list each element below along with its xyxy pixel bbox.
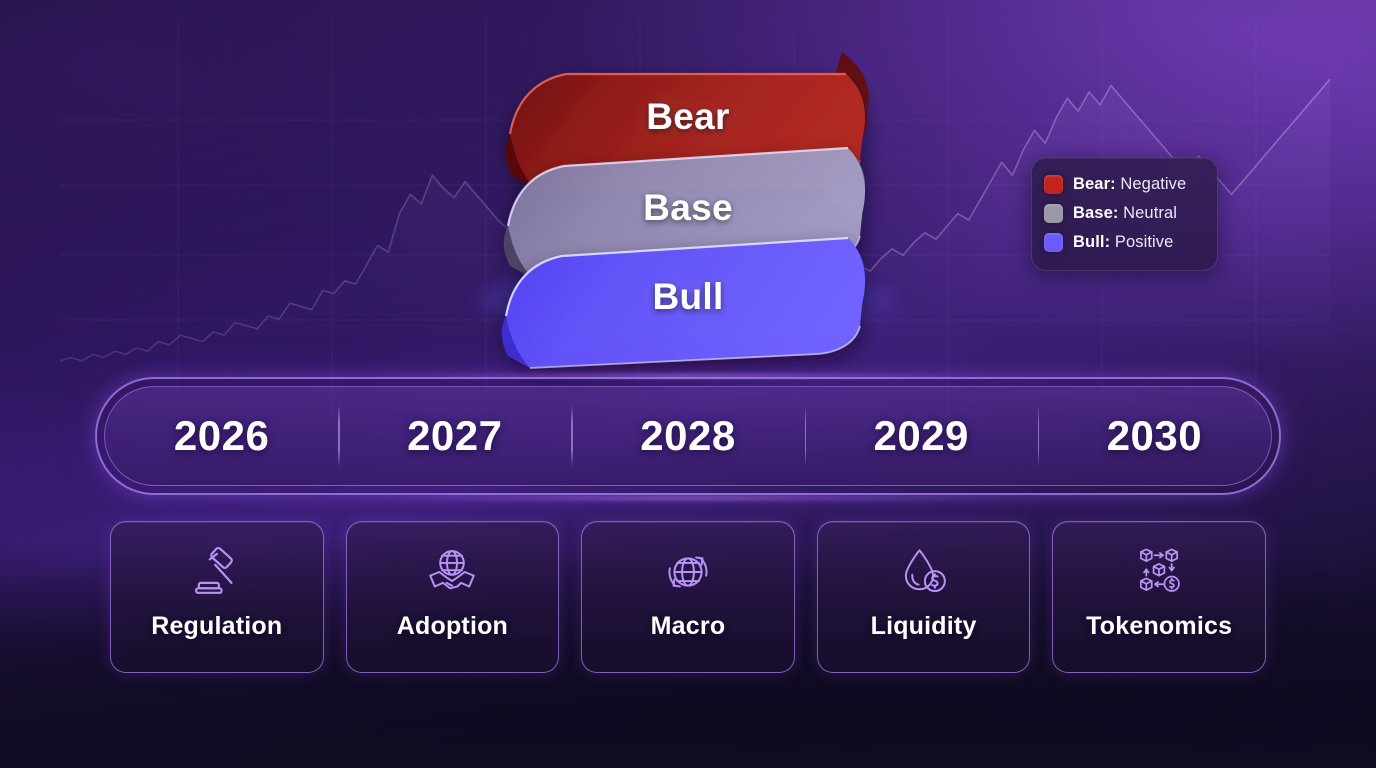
year-label: 2026 [174, 412, 269, 460]
gavel-icon [188, 543, 246, 601]
timeline-year-2027[interactable]: 2027 [338, 387, 571, 485]
legend-value-base: Neutral [1118, 204, 1177, 222]
year-label: 2030 [1107, 412, 1202, 460]
blockchain-cubes-icon [1130, 543, 1188, 601]
legend-swatch-base [1044, 204, 1063, 223]
droplet-dollar-icon [895, 543, 953, 601]
year-label: 2027 [407, 412, 502, 460]
globe-arrows-icon [659, 543, 717, 601]
factor-label-macro: Macro [582, 612, 794, 641]
legend-value-bear: Negative [1116, 175, 1187, 193]
legend-label-bull: Bull: Positive [1073, 233, 1173, 252]
factor-card-macro[interactable]: Macro [581, 521, 795, 673]
pill-inner-track: 2026 2027 2028 2029 2030 [104, 386, 1272, 486]
factor-card-regulation[interactable]: Regulation [110, 521, 324, 673]
year-label: 2029 [873, 412, 968, 460]
legend-item-bull: Bull: Positive [1044, 228, 1203, 257]
pill-glow-bottom [328, 496, 1048, 500]
factor-label-tokenomics: Tokenomics [1053, 612, 1265, 641]
factor-label-liquidity: Liquidity [818, 612, 1030, 641]
legend-label-base: Base: Neutral [1073, 204, 1177, 223]
factor-label-adoption: Adoption [347, 612, 559, 641]
ribbon-label-base: Base [643, 187, 733, 229]
infographic-stage: Bear Base Bull Bear: Negative Base: Neut… [0, 0, 1376, 768]
year-label: 2028 [640, 412, 735, 460]
timeline-year-2028[interactable]: 2028 [571, 387, 804, 485]
factor-label-regulation: Regulation [111, 612, 323, 641]
legend-label-bear: Bear: Negative [1073, 175, 1186, 194]
legend-item-bear: Bear: Negative [1044, 170, 1203, 199]
timeline-year-2030[interactable]: 2030 [1038, 387, 1271, 485]
factor-card-liquidity[interactable]: Liquidity [817, 521, 1031, 673]
scenario-legend: Bear: Negative Base: Neutral Bull: Posit… [1031, 157, 1218, 271]
legend-swatch-bear [1044, 175, 1063, 194]
timeline-year-2026[interactable]: 2026 [105, 387, 338, 485]
timeline-pill: 2026 2027 2028 2029 2030 [95, 377, 1281, 495]
timeline-year-2029[interactable]: 2029 [805, 387, 1038, 485]
ribbon-label-bear: Bear [646, 96, 729, 138]
factor-cards: Regulation Adoption [110, 521, 1266, 673]
legend-key-bull: Bull: [1073, 233, 1110, 251]
legend-swatch-bull [1044, 233, 1063, 252]
ribbon-label-bull: Bull [652, 276, 723, 318]
factor-card-adoption[interactable]: Adoption [346, 521, 560, 673]
handshake-globe-icon [423, 543, 481, 601]
factor-card-tokenomics[interactable]: Tokenomics [1052, 521, 1266, 673]
legend-item-base: Base: Neutral [1044, 199, 1203, 228]
legend-key-base: Base: [1073, 204, 1118, 222]
legend-value-bull: Positive [1110, 233, 1173, 251]
legend-key-bear: Bear: [1073, 175, 1116, 193]
